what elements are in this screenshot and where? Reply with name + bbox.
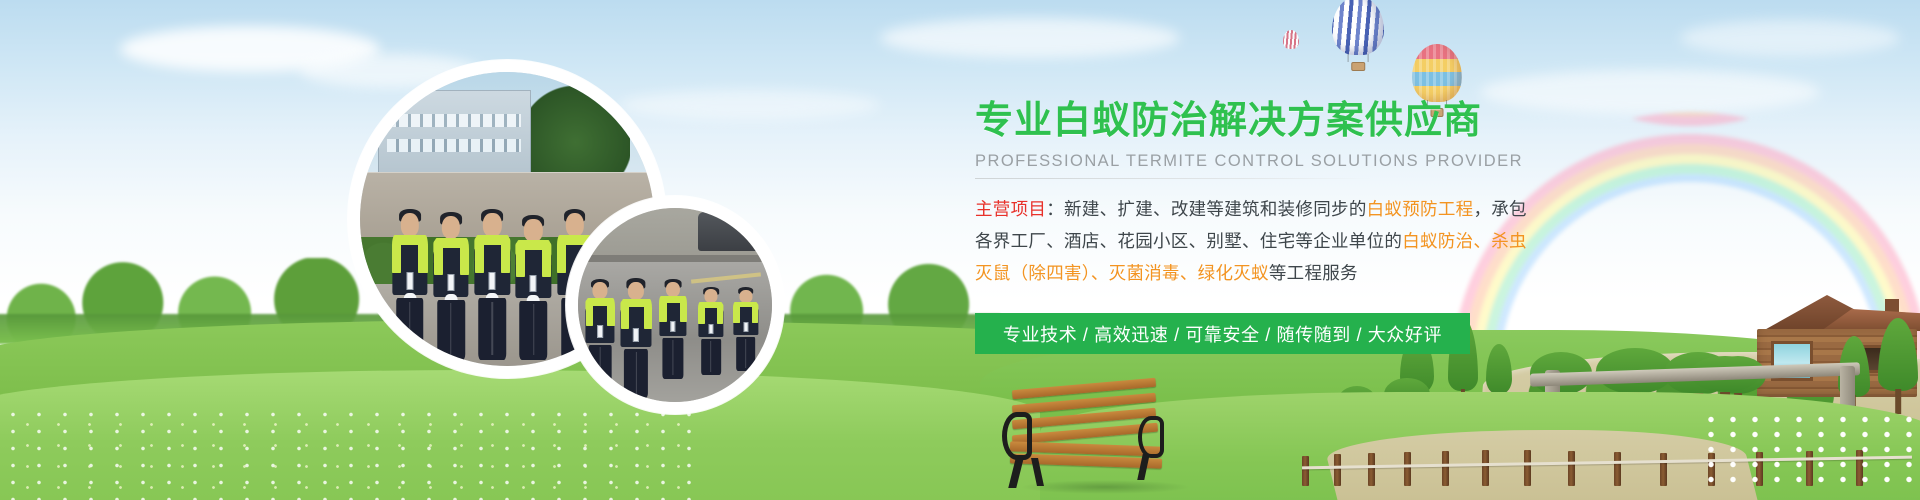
photo-building xyxy=(378,90,531,184)
team-photo-secondary-content xyxy=(578,208,772,402)
photo-worker xyxy=(621,282,652,398)
body-line-1-part-1: 新建、扩建、改建等建筑和装修同步的 xyxy=(1064,199,1367,219)
team-photo-secondary xyxy=(578,208,772,402)
photo-worker xyxy=(392,213,427,360)
body-line-3: 灭鼠（除四害）、灭菌消毒、绿化灭蚁等工程服务 xyxy=(975,257,1495,289)
cloud-icon xyxy=(880,18,1180,58)
photo-collage xyxy=(330,50,830,400)
feature-highlights-text: 专业技术 / 高效迅速 / 可靠安全 / 随传随到 / 大众好评 xyxy=(1003,321,1442,347)
photo-worker xyxy=(516,219,551,360)
balloon-basket xyxy=(1351,62,1365,71)
body-line-3-part-1: 等工程服务 xyxy=(1269,263,1358,283)
photo-worker xyxy=(434,216,469,360)
balloon-rope xyxy=(1348,54,1369,62)
balloon-envelope xyxy=(1283,30,1299,49)
body-colon: ： xyxy=(1046,199,1064,219)
bench-shadow xyxy=(1020,480,1190,494)
hot-air-balloon-blue-icon xyxy=(1332,0,1384,72)
daisy-field-right xyxy=(1700,412,1920,484)
photo-worker xyxy=(698,289,723,374)
photo-worker xyxy=(733,290,758,371)
daisy-field-left xyxy=(0,406,700,500)
photo-curb xyxy=(578,255,772,263)
body-label-main-services: 主营项目 xyxy=(975,199,1046,219)
bench-armrest-left xyxy=(1002,412,1032,460)
body-line-1-highlight: 白蚁预防工程 xyxy=(1367,199,1474,219)
photo-worker xyxy=(475,213,510,360)
balloon-envelope xyxy=(1412,44,1462,102)
body-line-2-highlight: 白蚁防治、杀虫 xyxy=(1402,231,1527,251)
body-line-1: 主营项目：新建、扩建、改建等建筑和装修同步的白蚁预防工程，承包 xyxy=(975,193,1495,225)
park-bench xyxy=(1000,382,1170,490)
photo-vehicle xyxy=(698,212,764,251)
hot-air-balloon-small-icon xyxy=(1283,30,1299,54)
body-line-2: 各界工厂、酒店、花园小区、别墅、住宅等企业单位的白蚁防治、杀虫 xyxy=(975,225,1495,257)
banner-headline: 专业白蚁防治解决方案供应商 xyxy=(975,100,1495,144)
body-line-2-part-1: 各界工厂、酒店、花园小区、别墅、住宅等企业单位的 xyxy=(975,231,1402,251)
photo-worker xyxy=(586,282,615,391)
banner-subheadline: PROFESSIONAL TERMITE CONTROL SOLUTIONS P… xyxy=(975,152,1495,171)
body-line-1-part-2: ，承包 xyxy=(1473,199,1526,219)
feature-highlights-bar[interactable]: 专业技术 / 高效迅速 / 可靠安全 / 随传随到 / 大众好评 xyxy=(975,313,1470,354)
cloud-icon xyxy=(1480,70,1820,114)
banner-body-text: 主营项目：新建、扩建、改建等建筑和装修同步的白蚁预防工程，承包 各界工厂、酒店、… xyxy=(975,193,1495,289)
body-line-3-highlight: 灭鼠（除四害）、灭菌消毒、绿化灭蚁 xyxy=(975,263,1269,283)
cloud-icon xyxy=(1680,20,1900,56)
banner-text-block: 专业白蚁防治解决方案供应商 PROFESSIONAL TERMITE CONTR… xyxy=(975,100,1495,289)
photo-worker xyxy=(659,282,686,379)
hero-banner: 专业白蚁防治解决方案供应商 PROFESSIONAL TERMITE CONTR… xyxy=(0,0,1920,500)
balloon-envelope xyxy=(1332,0,1384,55)
bench-armrest-right xyxy=(1138,416,1164,458)
text-divider xyxy=(975,178,1370,179)
